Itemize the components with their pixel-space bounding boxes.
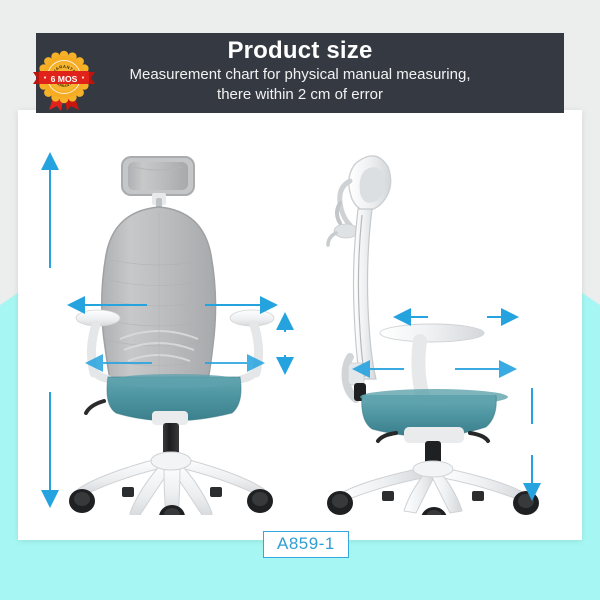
header-subtitle-line1: Measurement chart for physical manual me… [130,65,471,85]
backrest [102,207,216,395]
guarantee-badge-icon: GUARANTEE WARRANTY 6 MOS [33,46,95,112]
seat-mechanism [152,411,188,425]
armrest-side [380,324,484,393]
headrest [122,157,194,212]
header-banner: Product size Measurement chart for physi… [36,33,564,113]
header-subtitle-line2: there within 2 cm of error [217,85,383,105]
badge-center-text: 6 MOS [51,74,78,84]
chair-front-view [60,145,290,515]
product-size-infographic: Product size Measurement chart for physi… [0,0,600,600]
chair-base-side [338,461,529,513]
model-number-badge: A859-1 [263,531,349,558]
height-lever [86,401,104,413]
chair-side-view [320,145,540,515]
seat-mechanism-side [404,427,464,443]
armrest-right [230,310,274,379]
page-title: Product size [227,37,372,65]
